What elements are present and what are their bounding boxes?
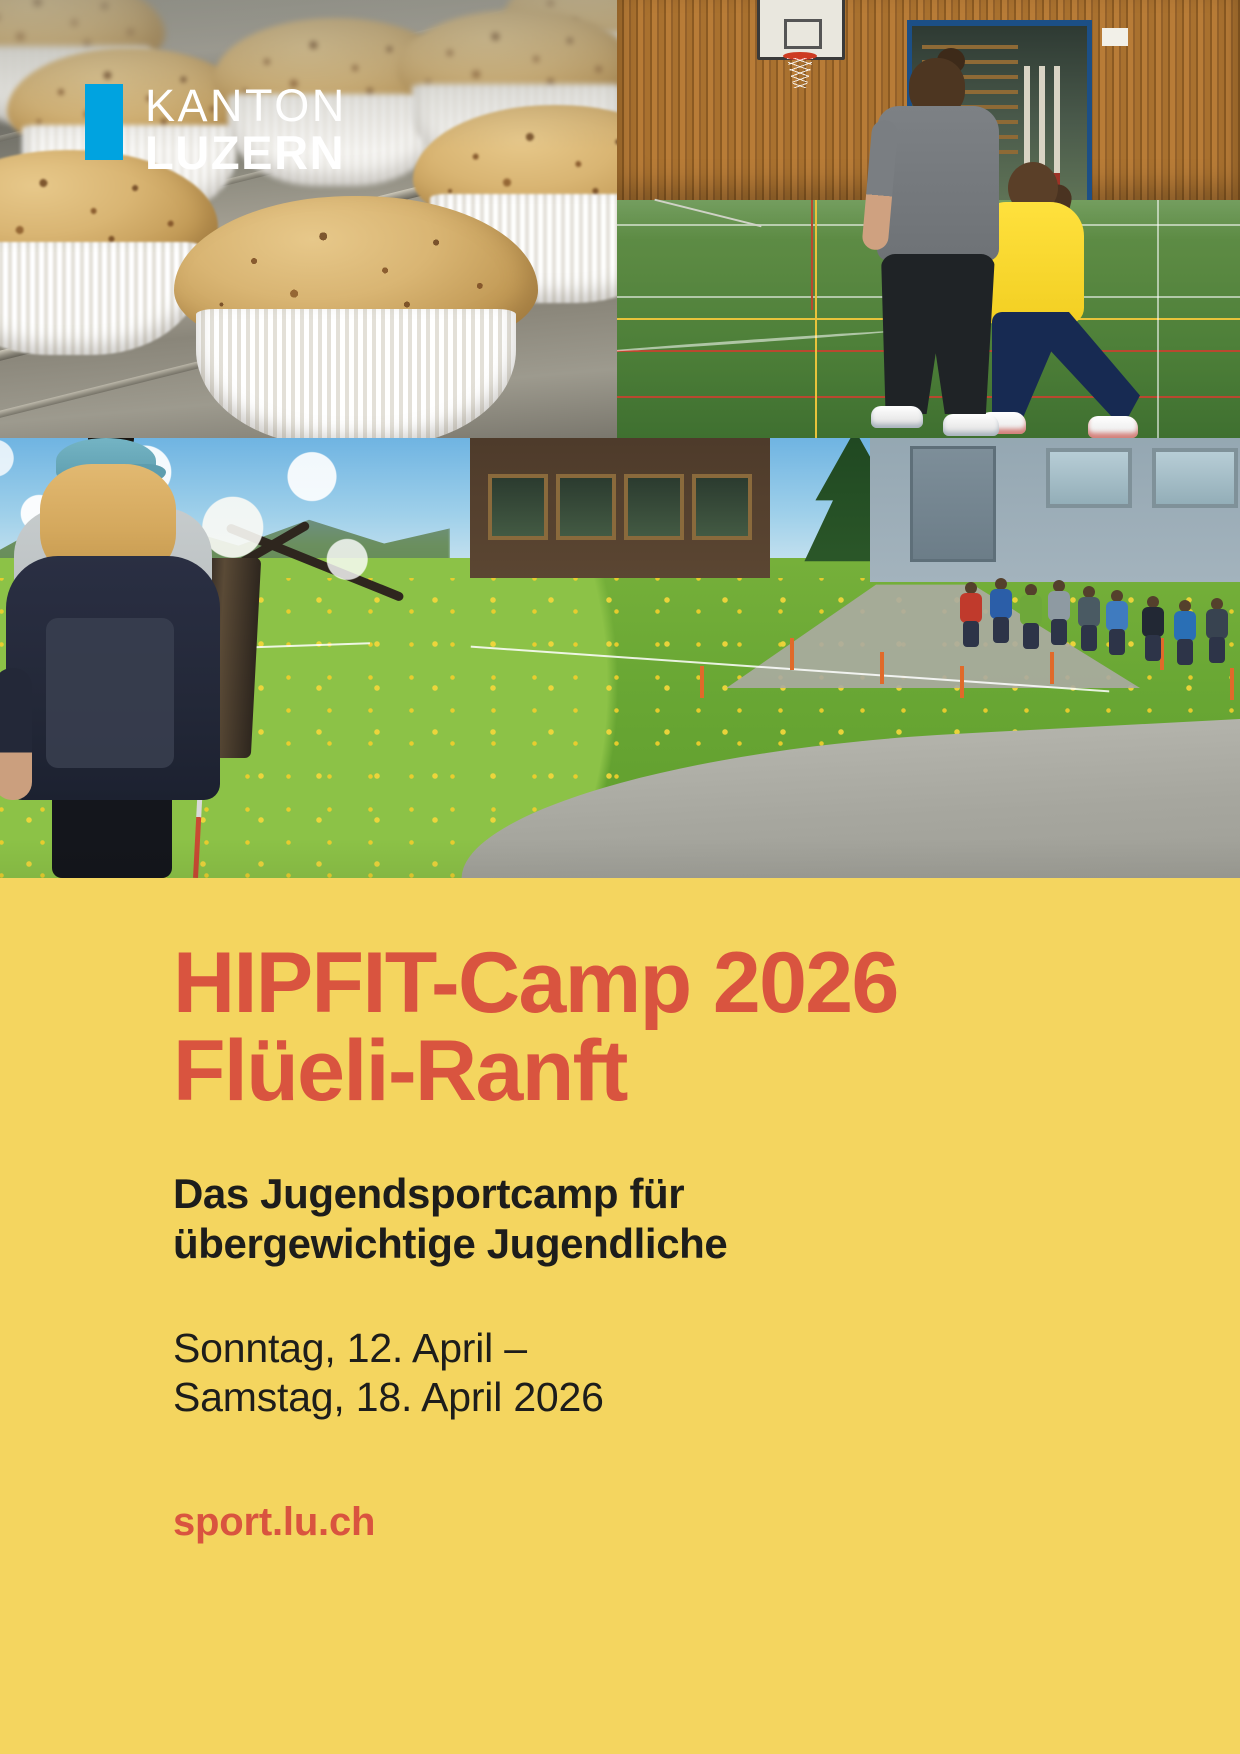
website-url[interactable]: sport.lu.ch [173, 1500, 1160, 1545]
hiker [988, 578, 1014, 644]
basketball-backboard [757, 0, 845, 60]
backpack [1206, 609, 1228, 639]
hiker [1046, 580, 1072, 646]
hiker [1104, 590, 1130, 656]
legs [1051, 619, 1067, 645]
window [556, 474, 616, 540]
court-line-yellow-vertical [815, 200, 817, 438]
shoe [1088, 416, 1138, 438]
subtitle-line-1: Das Jugendsportcamp für [173, 1170, 684, 1217]
logo-line-kanton: KANTON [145, 84, 347, 128]
kanton-luzern-blue-mark-icon [85, 84, 123, 160]
backpack [960, 593, 982, 623]
panel-content: HIPFIT-Camp 2026 Flüeli-Ranft Das Jugend… [173, 940, 1160, 1545]
jacket-back-panel [46, 618, 174, 768]
dark-trousers [881, 254, 995, 414]
backpack [990, 589, 1012, 619]
arm [0, 668, 32, 800]
page-title-line-1: HIPFIT-Camp 2026 [173, 935, 898, 1031]
backpack [1020, 595, 1042, 625]
hike-scene [0, 438, 1240, 878]
subtitle-line-2: übergewichtige Jugendliche [173, 1219, 1160, 1268]
page-title: HIPFIT-Camp 2026 Flüeli-Ranft [173, 940, 1160, 1115]
gym-scene [617, 0, 1240, 438]
photo-shadow [0, 838, 1240, 878]
logo-line-luzern: LUZERN [145, 130, 347, 176]
photo-muffins-baking-tray [0, 0, 617, 438]
muffin-cup [196, 309, 516, 439]
court-line-red-vertical [811, 200, 813, 310]
legs [1109, 629, 1125, 655]
legs [1209, 637, 1225, 663]
muffin-cup [0, 242, 200, 355]
wall-sign [1102, 28, 1128, 46]
hiker [1140, 596, 1166, 662]
camp-dates-line-1: Sonntag, 12. April – [173, 1325, 527, 1371]
shoe [871, 406, 923, 428]
logo-wordmark: KANTON LUZERN [145, 84, 347, 176]
blue-trousers [992, 312, 1140, 428]
fence-post [1050, 652, 1054, 684]
camp-dates-line-2: Samstag, 18. April 2026 [173, 1373, 1160, 1422]
backpack [1174, 611, 1196, 641]
kanton-luzern-logo: KANTON LUZERN [85, 84, 347, 176]
door [910, 446, 996, 562]
legs [993, 617, 1009, 643]
legs [1177, 639, 1193, 665]
hiker [1018, 584, 1044, 650]
muffin [0, 150, 200, 355]
court-line-vertical [1157, 200, 1159, 438]
page-title-line-2: Flüeli-Ranft [173, 1028, 1160, 1116]
fence-post [1230, 668, 1234, 700]
camp-dates: Sonntag, 12. April – Samstag, 18. April … [173, 1324, 1160, 1422]
backpack [1106, 601, 1128, 631]
backpack [1048, 591, 1070, 621]
subtitle: Das Jugendsportcamp für übergewichtige J… [173, 1169, 1160, 1267]
fence-post [700, 666, 704, 698]
fence-post [880, 652, 884, 684]
building-wooden [470, 438, 770, 578]
poster-hipfit-camp-2026: KANTON LUZERN HIPFIT-Camp 2026 Flüeli-Ra… [0, 0, 1240, 1754]
fence-post [960, 666, 964, 698]
hiker [958, 582, 984, 648]
window [692, 474, 752, 540]
legs [1145, 635, 1161, 661]
window [1152, 448, 1238, 508]
hiker [1172, 600, 1198, 666]
window [488, 474, 548, 540]
legs [1081, 625, 1097, 651]
hiker [1076, 586, 1102, 652]
legs [963, 621, 979, 647]
window [1046, 448, 1132, 508]
photo-hiking-meadow [0, 438, 1240, 878]
muffin-scene [0, 0, 617, 438]
shoe [943, 414, 999, 436]
person-adult [867, 58, 1007, 438]
legs [1023, 623, 1039, 649]
muffin-foreground [196, 196, 516, 438]
yellow-text-panel: HIPFIT-Camp 2026 Flüeli-Ranft Das Jugend… [0, 878, 1240, 1754]
backpack [1142, 607, 1164, 637]
photo-gym-exercise [617, 0, 1240, 438]
building-grey [870, 438, 1240, 582]
hiker [1204, 598, 1230, 664]
window [624, 474, 684, 540]
storage-posts [1024, 66, 1064, 176]
fence-post [790, 638, 794, 670]
backpack [1078, 597, 1100, 627]
